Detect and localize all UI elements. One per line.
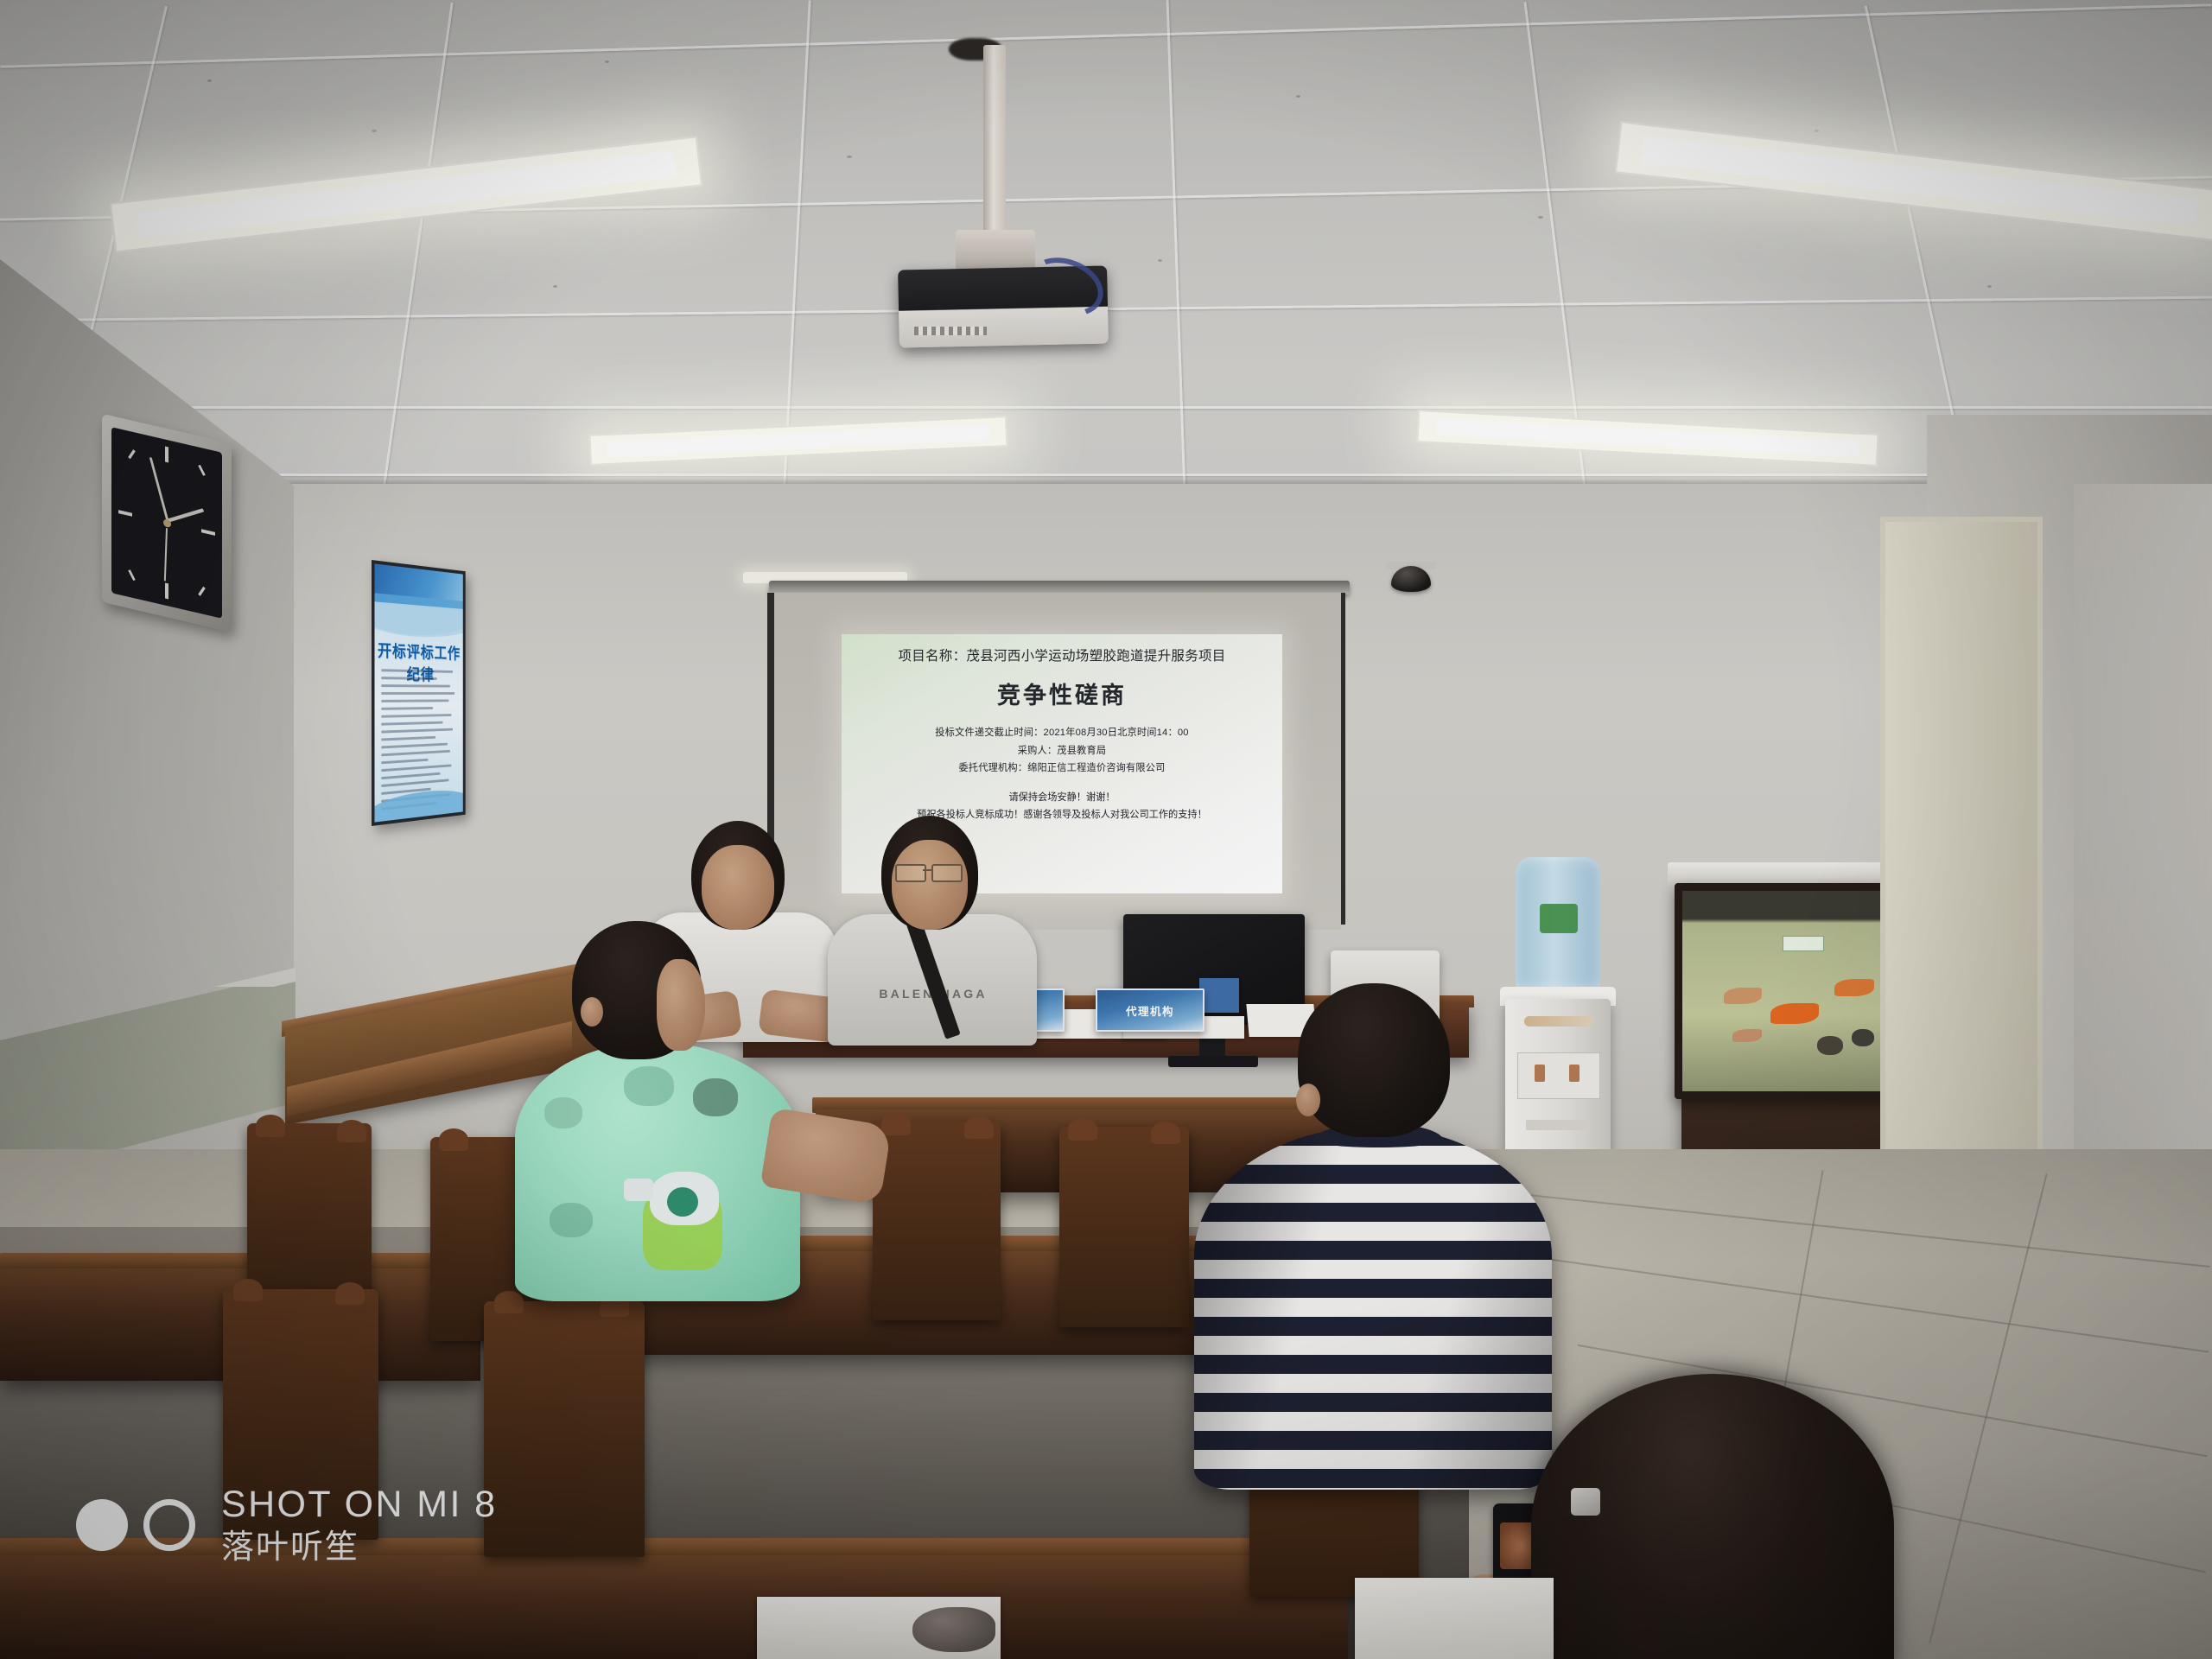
slide-project-name: 项目名称：茂县河西小学运动场塑胶跑道提升服务项目 <box>842 634 1282 665</box>
poster-bid-discipline: 开标评标工作纪律 <box>372 560 466 826</box>
meeting-room-photo: 开标评标工作纪律 项目名称：茂县河西小学运动场塑胶跑道提升服务项目 竞争性磋商 … <box>0 0 2212 1659</box>
dispenser-cold-tap <box>1569 1065 1580 1082</box>
dispenser-brand-strip <box>1524 1016 1593 1027</box>
chair-knob-center-1b <box>964 1116 994 1139</box>
chair-knob-center-1 <box>881 1113 911 1135</box>
camera-watermark: SHOT ON MI 8 落叶听笙 <box>76 1483 498 1567</box>
slide-headline: 竞争性磋商 <box>842 677 1282 710</box>
nameplate-agency: 代理机构 <box>1096 988 1205 1032</box>
projector-vent <box>914 327 987 335</box>
dispenser-tap-panel <box>1517 1052 1600 1099</box>
chair-center-1[interactable] <box>873 1122 1001 1320</box>
eyeglasses-lens-left <box>895 864 926 882</box>
person-mint-tshirt-face <box>657 959 705 1051</box>
hair-clip <box>1571 1488 1600 1516</box>
dispenser-drip-tray <box>1526 1120 1592 1130</box>
person-striped-shirt-hair <box>1298 983 1450 1137</box>
goldfish-1 <box>1724 988 1762 1004</box>
clock-hour-hand <box>166 508 204 523</box>
watermark-text: SHOT ON MI 8 落叶听笙 <box>221 1483 498 1567</box>
slide-deadline: 投标文件递交截止时间：2021年08月30日北京时间14：00 <box>842 725 1282 741</box>
goldfish-2 <box>1770 1003 1819 1024</box>
clock-minute-hand <box>149 457 168 519</box>
water-bottle-label <box>1540 904 1578 933</box>
goldfish-3 <box>1834 979 1874 996</box>
cartoon-print-2 <box>624 1066 674 1106</box>
front-desk-document <box>1355 1578 1554 1659</box>
person-glasses-face <box>892 840 968 930</box>
chair-knob-left-1b <box>337 1120 366 1142</box>
eyeglasses-lens-right <box>931 864 963 882</box>
cartoon-print-4 <box>550 1203 593 1237</box>
wall-clock <box>102 414 232 632</box>
monitor-base <box>1168 1056 1258 1067</box>
cartoon-print-1 <box>544 1097 582 1128</box>
chair-knob-left-1 <box>256 1115 285 1137</box>
chair-knob-center-2b <box>1151 1122 1180 1144</box>
chair-knob-front-2 <box>494 1291 524 1313</box>
chair-knob-center-2 <box>1068 1118 1097 1141</box>
person-striped-shirt-ear <box>1296 1084 1320 1116</box>
watermark-line-2: 落叶听笙 <box>221 1529 498 1567</box>
watermark-line-1: SHOT ON MI 8 <box>221 1483 498 1527</box>
slide-note-thanks: 预祝各投标人竞标成功！感谢各领导及投标人对我公司工作的支持！ <box>842 807 1282 821</box>
front-desk-object <box>912 1607 995 1652</box>
goldfish-4 <box>1732 1029 1762 1042</box>
person-white-tshirt-face <box>702 845 774 930</box>
watermark-lens-icons <box>76 1499 195 1551</box>
clock-face <box>111 427 222 619</box>
person-striped-shirt-shading <box>1194 1127 1552 1490</box>
front-desk <box>0 1555 1348 1659</box>
person-mint-tshirt-body <box>515 1042 800 1301</box>
projection-screen: 项目名称：茂县河西小学运动场塑胶跑道提升服务项目 竞争性磋商 投标文件递交截止时… <box>774 593 1341 930</box>
chair-knob-left-2 <box>439 1128 468 1151</box>
aquarium-sticker <box>1783 936 1824 951</box>
chair-center-2[interactable] <box>1059 1127 1189 1327</box>
slide-agency: 委托代理机构：绵阳正信工程造价咨询有限公司 <box>842 760 1282 776</box>
eyeglasses-bridge <box>923 869 931 871</box>
chair-knob-front-1b <box>335 1282 365 1305</box>
person-mint-tshirt-ear <box>581 997 603 1027</box>
cartoon-character-eye <box>667 1187 698 1217</box>
ceiling-light-top-left <box>110 136 702 252</box>
cartoon-character-antenna <box>624 1179 653 1201</box>
aquarium <box>1675 883 1911 1099</box>
filled-circle-icon <box>76 1499 128 1551</box>
ring-circle-icon <box>143 1499 195 1551</box>
slide-purchaser: 采购人：茂县教育局 <box>842 743 1282 759</box>
dispenser-hot-tap <box>1535 1065 1545 1082</box>
aquarium-rock-2 <box>1852 1029 1874 1046</box>
chair-front-2[interactable] <box>484 1301 645 1557</box>
clock-second-hand <box>164 528 168 582</box>
suspended-ceiling <box>0 0 2212 536</box>
document-card <box>1199 978 1239 1013</box>
slide-note-quiet: 请保持会场安静！谢谢！ <box>842 790 1282 804</box>
aquarium-rock-1 <box>1817 1036 1843 1055</box>
ceiling-light-bottom-left <box>588 416 1007 466</box>
ceiling-light-bottom-right <box>1416 410 1878 467</box>
chair-knob-front-1 <box>233 1279 263 1301</box>
cartoon-print-3 <box>693 1078 738 1116</box>
projector-mount-pole <box>983 45 1006 237</box>
